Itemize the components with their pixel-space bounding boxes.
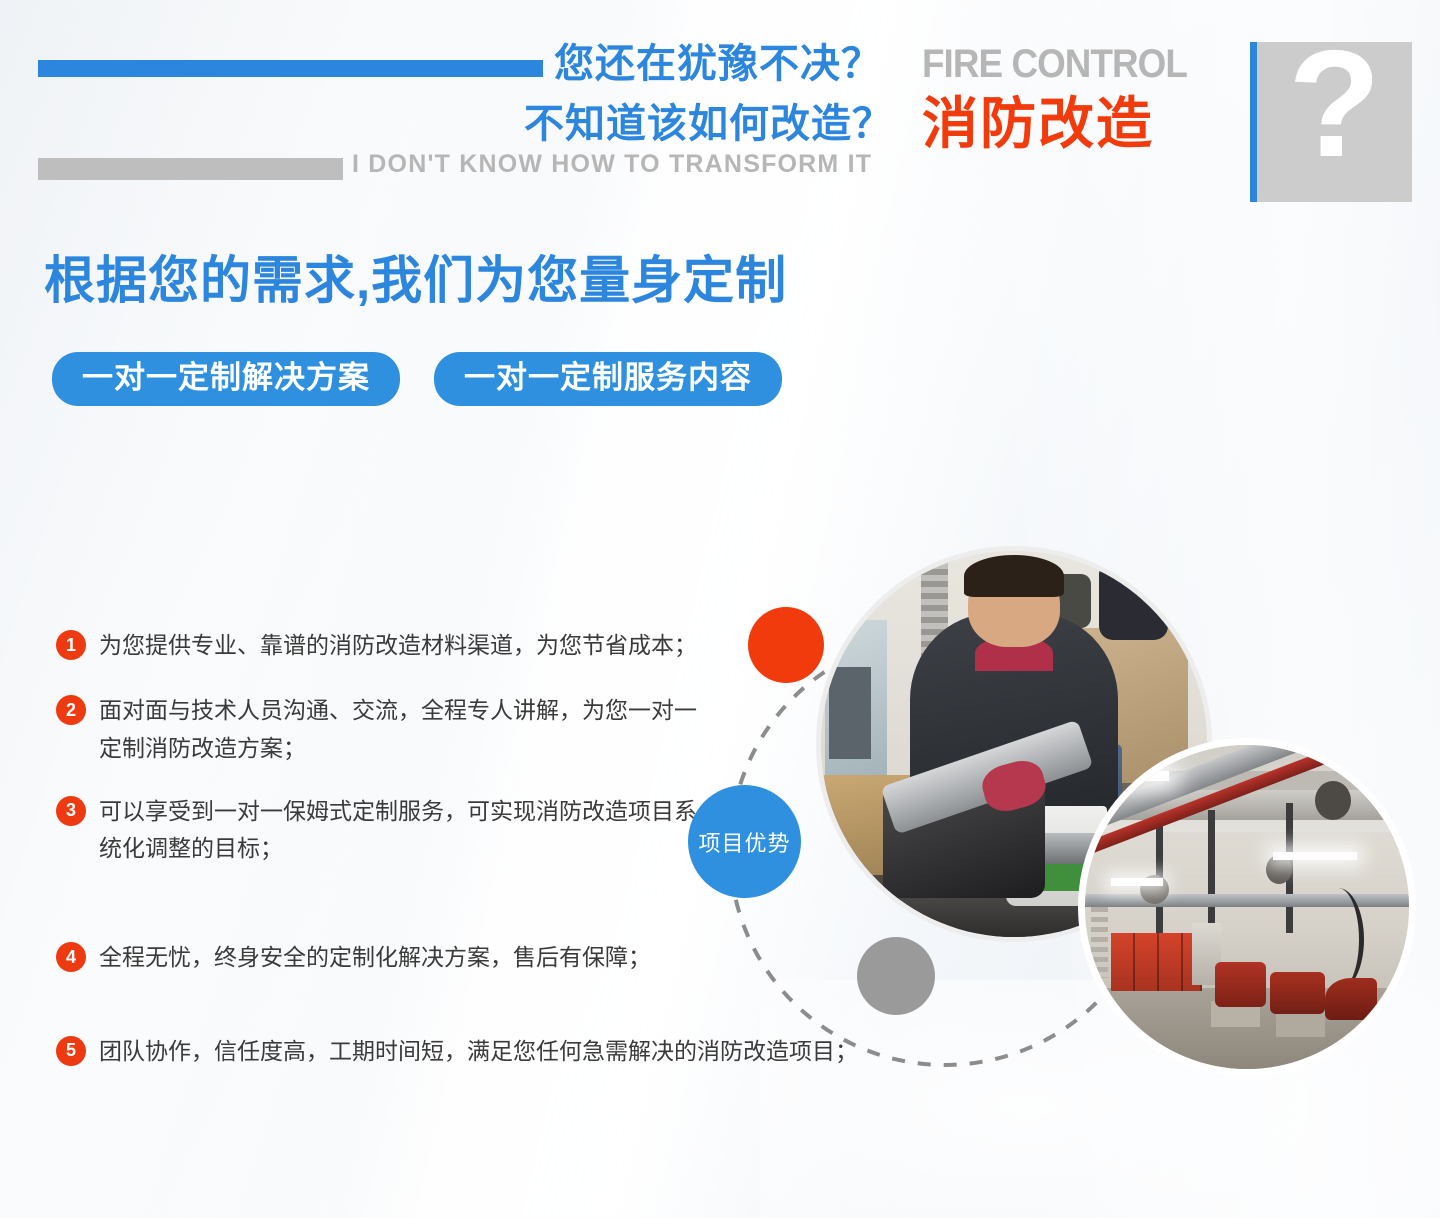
pill-button-row: 一对一定制解决方案 一对一定制服务内容 xyxy=(52,352,782,406)
gray-rule-bar xyxy=(38,158,343,180)
list-item-number: 5 xyxy=(56,1036,86,1066)
list-item-text: 为您提供专业、靠谱的消防改造材料渠道，为您节省成本； xyxy=(99,628,697,665)
pill-custom-solution[interactable]: 一对一定制解决方案 xyxy=(52,352,400,406)
fire-pump-room-photo xyxy=(1078,738,1416,1076)
question-mark-box: ? xyxy=(1250,42,1412,202)
pump-room-photo-content xyxy=(1085,745,1409,1069)
pill-custom-service[interactable]: 一对一定制服务内容 xyxy=(434,352,782,406)
fire-control-chinese-label: 消防改造 xyxy=(922,96,1154,152)
project-advantage-badge: 项目优势 xyxy=(688,785,801,898)
list-item: 4 全程无忧，终身安全的定制化解决方案，售后有保障； xyxy=(56,940,716,977)
diagram-dot-gray xyxy=(857,937,935,1015)
blue-rule-bar xyxy=(38,60,543,77)
project-advantage-badge-label: 项目优势 xyxy=(698,826,790,858)
list-item-number: 3 xyxy=(56,796,86,826)
header-question-line-1: 您还在犹豫不决？ xyxy=(554,44,882,84)
list-item-number: 1 xyxy=(56,630,86,660)
list-item-text: 可以享受到一对一保姆式定制服务，可实现消防改造项目系统化调整的目标； xyxy=(99,794,716,869)
question-mark-icon: ? xyxy=(1257,28,1412,180)
list-item: 3 可以享受到一对一保姆式定制服务，可实现消防改造项目系统化调整的目标； xyxy=(56,794,716,869)
list-item: 1 为您提供专业、靠谱的消防改造材料渠道，为您节省成本； xyxy=(56,628,716,665)
list-item-number: 4 xyxy=(56,942,86,972)
header-banner: 您还在犹豫不决？ 不知道该如何改造？ FIRE CONTROL 消防改造 I D… xyxy=(0,0,1440,220)
list-item: 2 面对面与技术人员沟通、交流，全程专人讲解，为您一对一定制消防改造方案； xyxy=(56,693,716,768)
page-title: 根据您的需求,我们为您量身定制 xyxy=(44,252,787,309)
list-item-text: 面对面与技术人员沟通、交流，全程专人讲解，为您一对一定制消防改造方案； xyxy=(99,693,716,768)
list-item-text: 全程无忧，终身安全的定制化解决方案，售后有保障； xyxy=(99,940,651,977)
fire-control-english-label: FIRE CONTROL xyxy=(922,44,1187,84)
advantages-list: 1 为您提供专业、靠谱的消防改造材料渠道，为您节省成本； 2 面对面与技术人员沟… xyxy=(56,628,716,1071)
header-question-line-2: 不知道该如何改造？ xyxy=(524,104,893,144)
list-item: 5 团队协作，信任度高，工期时间短，满足您任何急需解决的消防改造项目； xyxy=(56,1034,716,1071)
list-item-number: 2 xyxy=(56,695,86,725)
diagram-dot-orange xyxy=(748,607,824,683)
header-english-subtitle: I DON'T KNOW HOW TO TRANSFORM IT xyxy=(352,152,872,177)
